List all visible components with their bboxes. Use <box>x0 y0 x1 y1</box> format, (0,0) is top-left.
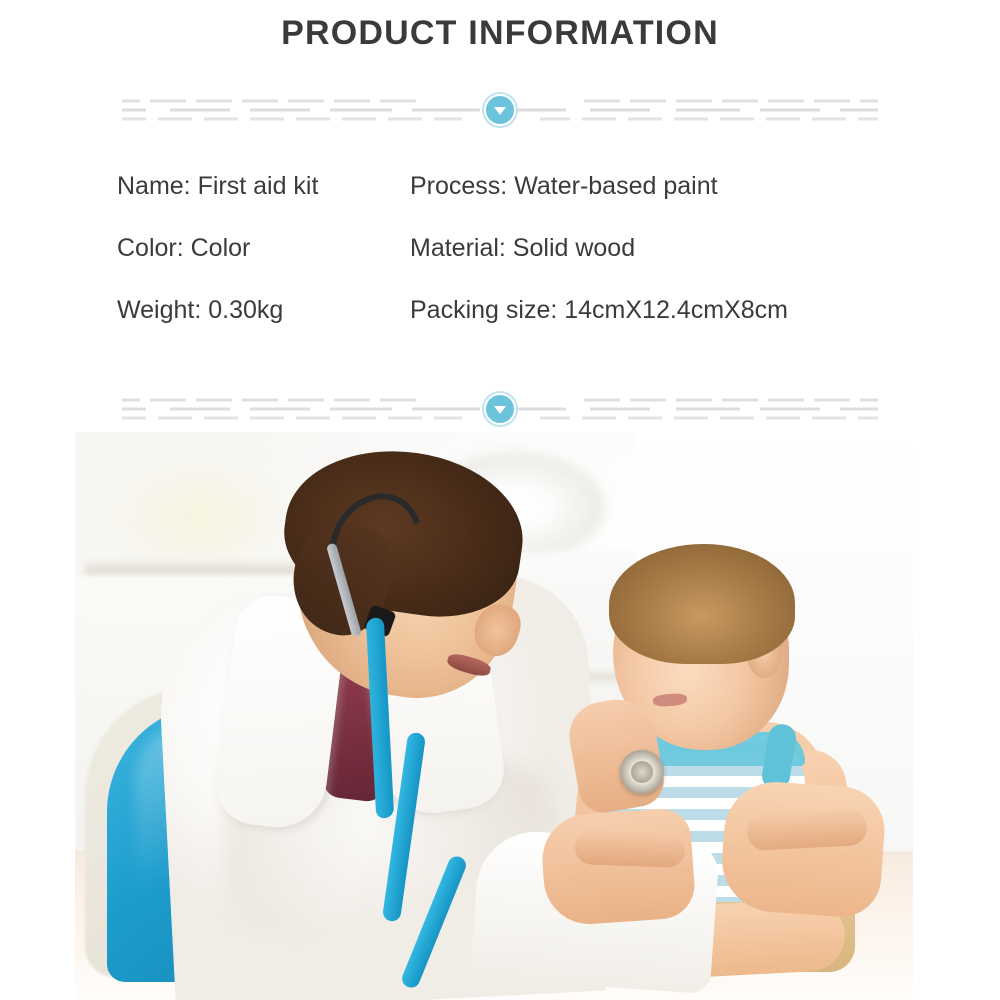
spec-weight: Weight: 0.30kg <box>117 296 410 325</box>
spec-process: Process: Water-based paint <box>410 172 917 201</box>
baby-hair <box>609 544 795 664</box>
spec-row: Weight: 0.30kg Packing size: 14cmX12.4cm… <box>117 279 917 341</box>
page-title: PRODUCT INFORMATION <box>0 14 1000 53</box>
spec-row: Color: Color Material: Solid wood <box>117 217 917 279</box>
stethoscope-diaphragm <box>631 761 653 783</box>
spec-color: Color: Color <box>117 234 410 263</box>
spec-row: Name: First aid kit Process: Water-based… <box>117 155 917 217</box>
spec-packing-size: Packing size: 14cmX12.4cmX8cm <box>410 296 917 325</box>
supporting-hand-right <box>719 779 888 920</box>
product-spec-list: Name: First aid kit Process: Water-based… <box>117 155 917 341</box>
spec-material: Material: Solid wood <box>410 234 917 263</box>
supporting-hand-left-fingers <box>574 830 685 868</box>
divider-badge-top <box>484 94 516 126</box>
supporting-hand-left <box>539 807 696 927</box>
product-lifestyle-photo <box>75 432 913 1000</box>
supporting-hand-right-fingers <box>746 809 868 851</box>
section-divider-top <box>0 88 1000 132</box>
divider-badge-bottom <box>484 393 516 425</box>
chevron-down-icon <box>494 406 506 414</box>
spec-name: Name: First aid kit <box>117 172 410 201</box>
chevron-down-icon <box>494 107 506 115</box>
section-divider-bottom <box>0 387 1000 431</box>
